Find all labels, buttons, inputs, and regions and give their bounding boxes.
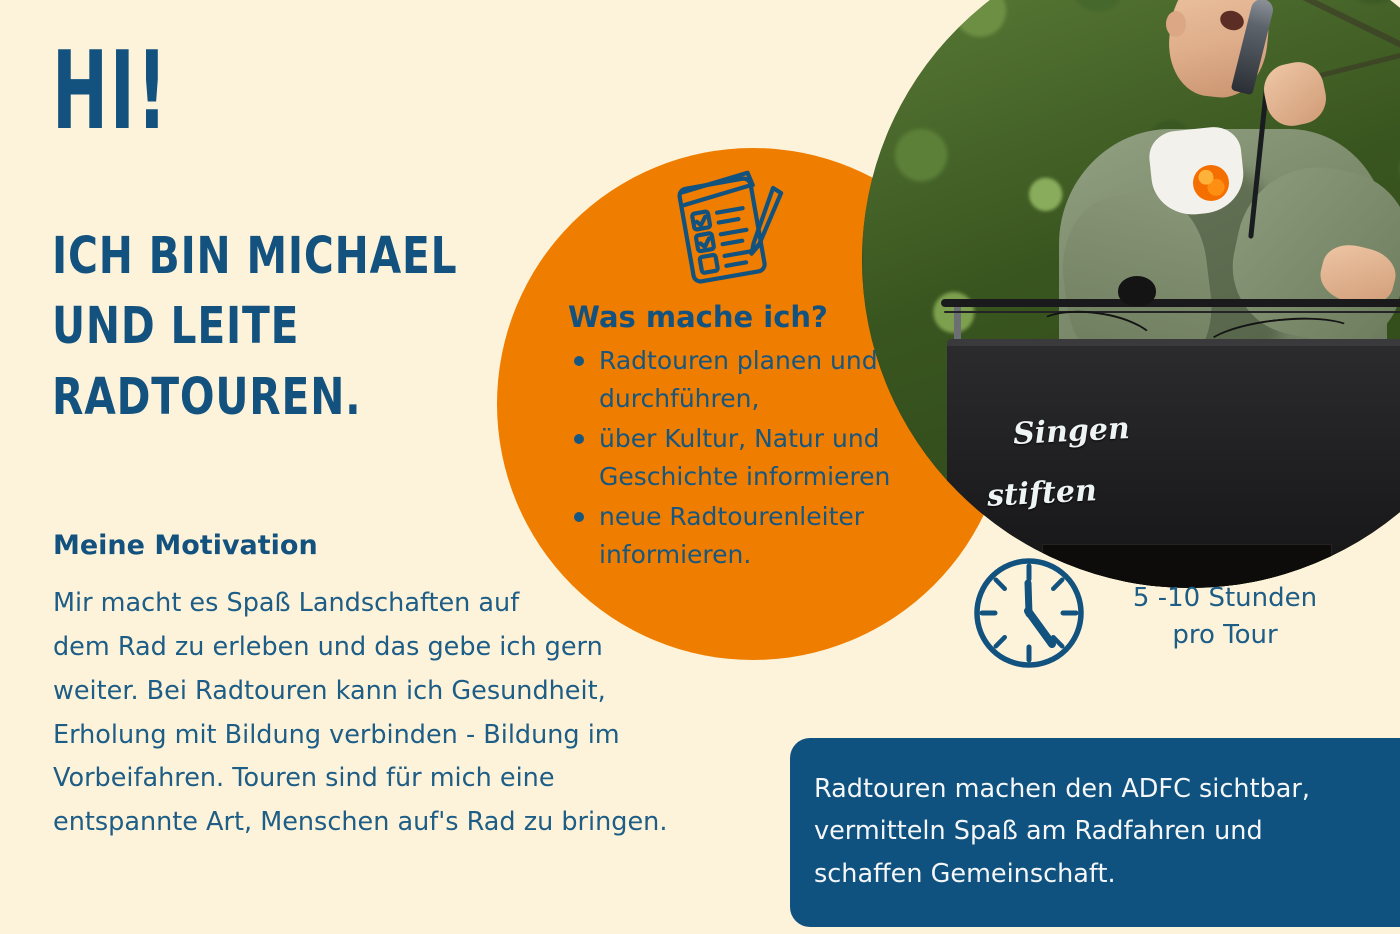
tasks-heading: Was mache ich? <box>568 300 940 334</box>
quote-box: Radtouren machen den ADFC sichtbar, verm… <box>790 738 1400 927</box>
motivation-text: Mir macht es Spaß Landschaften auf dem R… <box>53 582 753 845</box>
list-item: neue Radtourenleiter informieren. <box>568 498 940 574</box>
poster-canvas: Singen stiften <box>0 0 1400 934</box>
bicycle-bell <box>1118 276 1156 306</box>
duration-label: 5 -10 Stunden pro Tour <box>1100 580 1350 654</box>
cargo-sign-line-2: stiften <box>986 474 1097 515</box>
quote-text: Radtouren machen den ADFC sichtbar, verm… <box>814 768 1380 895</box>
motivation-heading: Meine Motivation <box>53 530 318 561</box>
portrait-photo: Singen stiften <box>862 0 1400 588</box>
page-title: ICH BIN MICHAEL UND LEITE RADTOUREN. <box>52 222 457 433</box>
handlebar <box>941 299 1400 307</box>
clock-icon <box>968 552 1090 674</box>
photo-inner: Singen stiften <box>862 0 1400 588</box>
hand-holding-microphone <box>1260 58 1332 131</box>
clipboard-checklist-icon <box>668 168 788 290</box>
cargo-sign-line-1: Singen <box>1012 411 1130 452</box>
ear <box>1166 11 1186 37</box>
tasks-panel: Was mache ich? Radtouren planen und durc… <box>568 300 940 576</box>
orange-flower-badge <box>1193 165 1229 201</box>
cargo-bike-box <box>947 339 1400 588</box>
list-item: über Kultur, Natur und Geschichte inform… <box>568 420 940 496</box>
greeting-heading: HI! <box>52 38 169 146</box>
list-item: Radtouren planen und durchführen, <box>568 342 940 418</box>
tasks-list: Radtouren planen und durchführen, über K… <box>568 342 940 574</box>
